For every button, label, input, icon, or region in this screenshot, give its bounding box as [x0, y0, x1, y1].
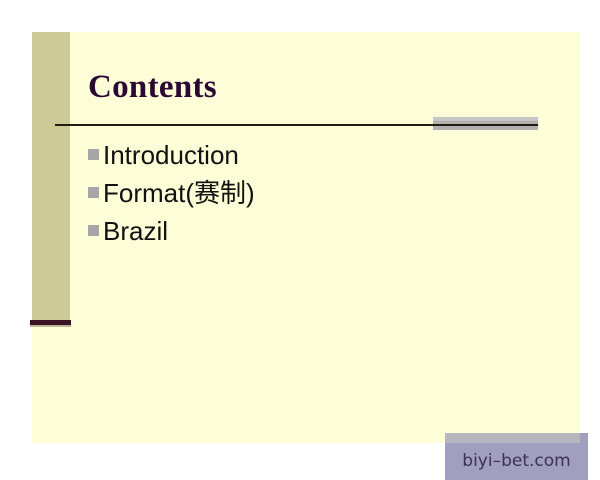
square-bullet-icon	[88, 149, 99, 160]
list-item[interactable]: Brazil	[88, 214, 255, 252]
left-accent-band	[32, 32, 70, 321]
list-item-label: Introduction	[103, 138, 239, 172]
left-accent-band-cap	[30, 320, 71, 325]
square-bullet-icon	[88, 187, 99, 198]
list-item-label: Format(赛制)	[103, 176, 255, 210]
list-item-label: Brazil	[103, 214, 168, 248]
square-bullet-icon	[88, 225, 99, 236]
contents-list: Introduction Format(赛制) Brazil	[88, 138, 255, 252]
watermark-top-strip	[445, 433, 580, 443]
list-item[interactable]: Format(赛制)	[88, 176, 255, 214]
slide-title: Contents	[88, 68, 217, 106]
list-item[interactable]: Introduction	[88, 138, 255, 176]
presentation-slide: Contents Introduction Format(赛制) Brazil …	[0, 0, 600, 480]
title-divider-rule	[55, 124, 538, 126]
